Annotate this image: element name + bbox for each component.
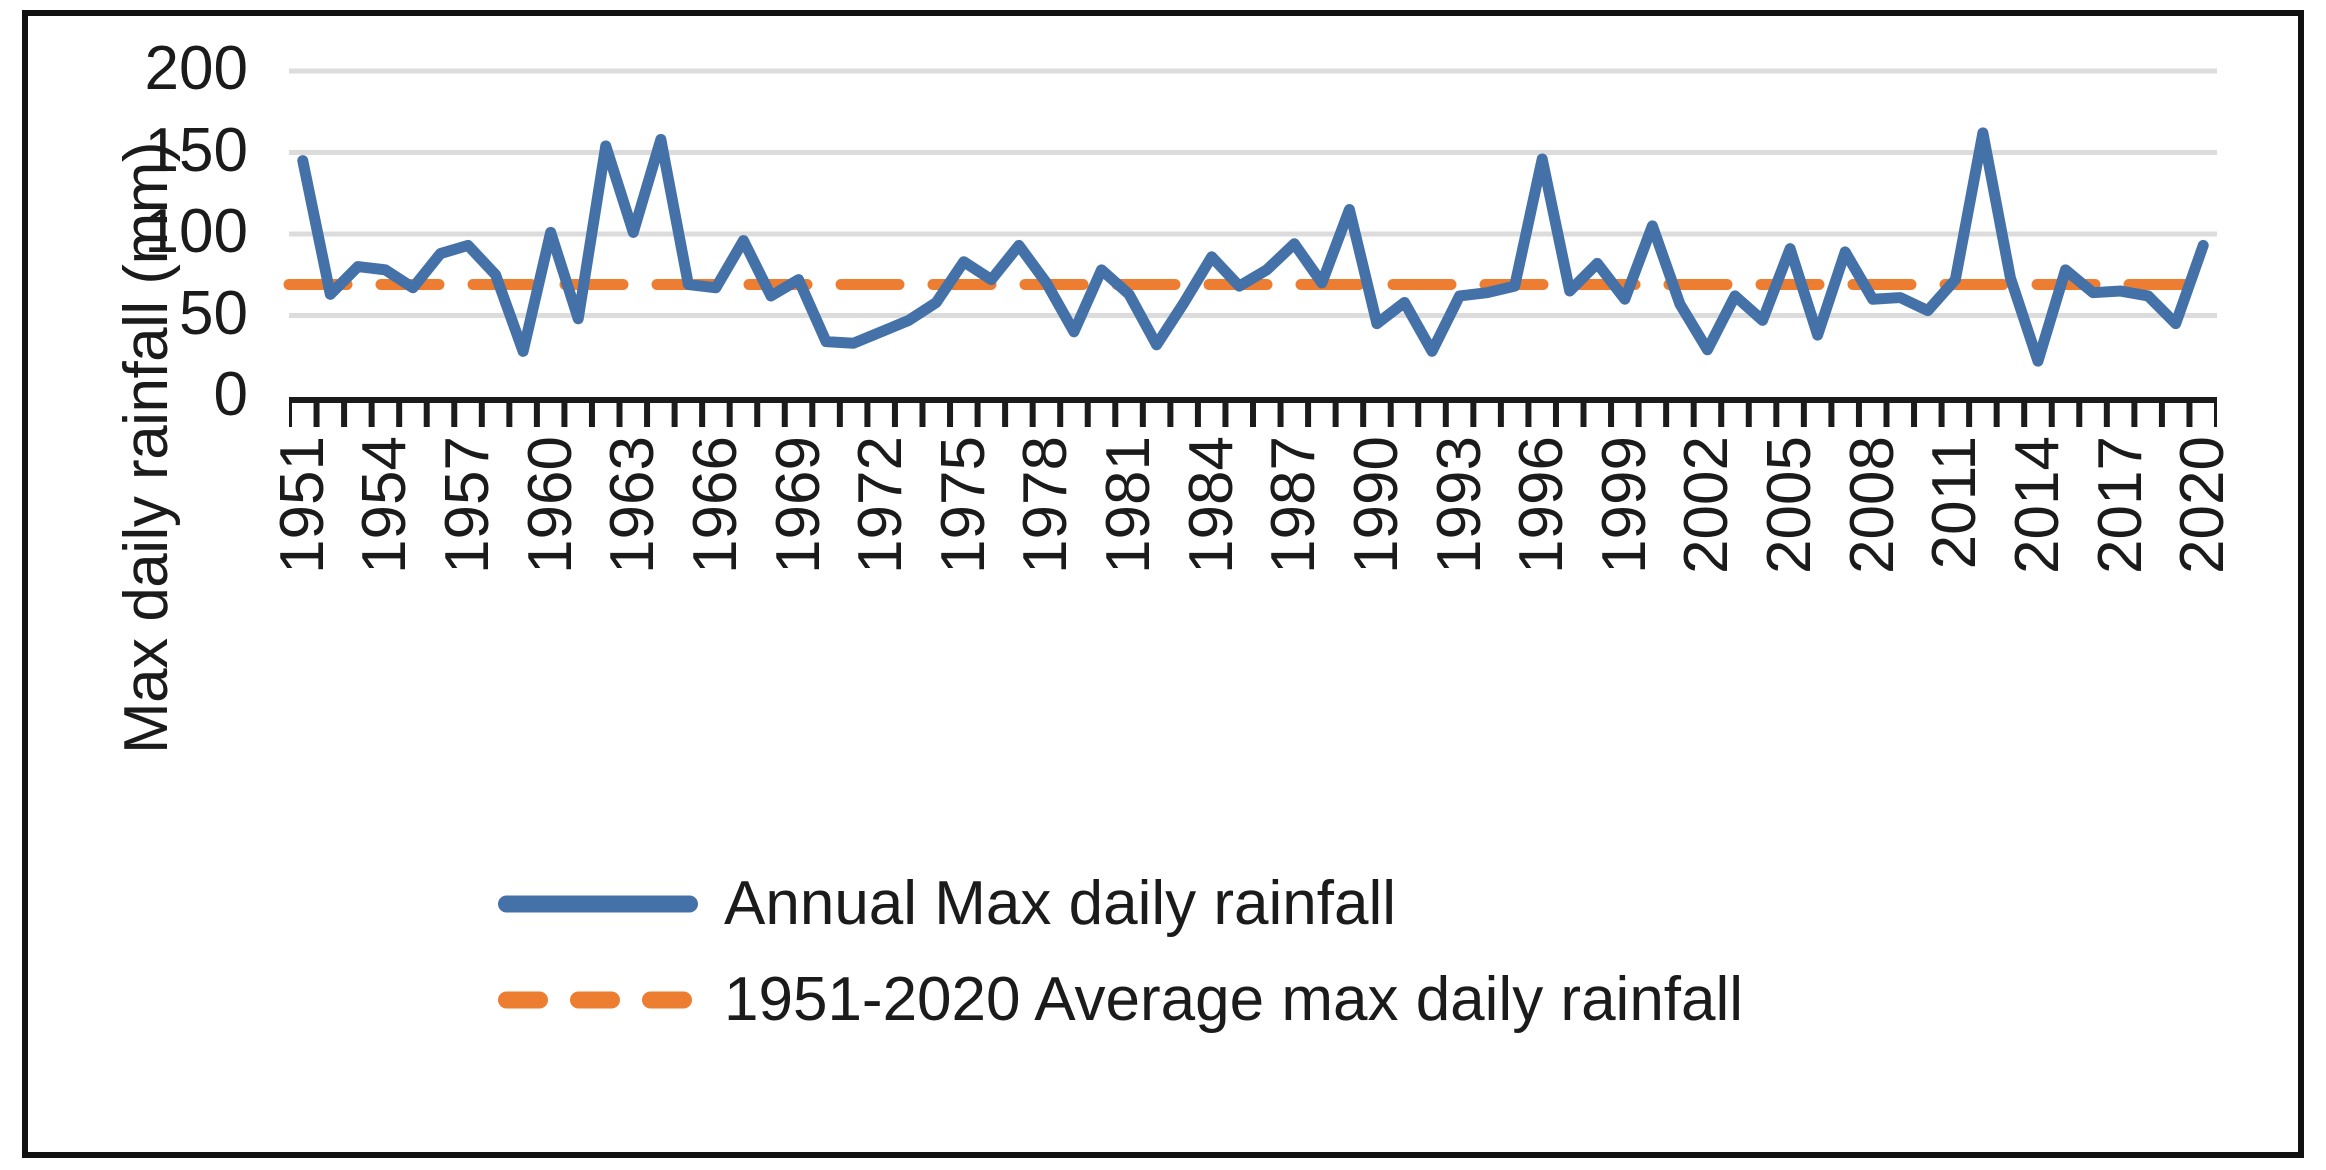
plot-svg xyxy=(289,71,2217,397)
legend-swatch-solid-line-icon xyxy=(498,891,698,917)
x-axis xyxy=(289,397,2217,433)
x-tick-label-2005: 2005 xyxy=(1773,436,1807,636)
y-tick-label-150: 150 xyxy=(68,120,248,182)
legend-item-average: 1951-2020 Average max daily rainfall xyxy=(498,952,2098,1048)
x-tick-label-1990: 1990 xyxy=(1360,436,1394,636)
x-tick-label-1951: 1951 xyxy=(286,436,320,636)
x-tick-label-1978: 1978 xyxy=(1029,436,1063,636)
x-tick-label-1981: 1981 xyxy=(1112,436,1146,636)
x-tick-label-2014: 2014 xyxy=(2021,436,2055,636)
legend-label-annual: Annual Max daily rainfall xyxy=(724,873,1396,935)
x-tick-label-1999: 1999 xyxy=(1608,436,1642,636)
x-tick-label-2008: 2008 xyxy=(1856,436,1890,636)
x-tick-label-1975: 1975 xyxy=(947,436,981,636)
x-tick-label-1993: 1993 xyxy=(1443,436,1477,636)
x-axis-ticks xyxy=(289,400,2217,427)
legend-label-average: 1951-2020 Average max daily rainfall xyxy=(724,969,1743,1031)
x-tick-label-1960: 1960 xyxy=(534,436,568,636)
x-axis-tick-labels: 1951195419571960196319661969197219751978… xyxy=(289,436,2217,636)
x-tick-label-2017: 2017 xyxy=(2104,436,2138,636)
y-tick-label-0: 0 xyxy=(68,364,248,426)
legend-item-annual: Annual Max daily rainfall xyxy=(498,856,2098,952)
x-tick-label-2002: 2002 xyxy=(1690,436,1724,636)
chart-screenshot: Max daily rainfall (mm) 050100150200 195… xyxy=(0,0,2326,1170)
x-tick-label-1972: 1972 xyxy=(864,436,898,636)
chart-legend: Annual Max daily rainfall 1951-2020 Aver… xyxy=(498,856,2098,1048)
x-tick-label-1984: 1984 xyxy=(1195,436,1229,636)
y-tick-label-100: 100 xyxy=(68,201,248,263)
x-tick-label-2020: 2020 xyxy=(2186,436,2220,636)
annual-max-series-line xyxy=(303,133,2203,361)
x-tick-label-1966: 1966 xyxy=(699,436,733,636)
y-tick-label-50: 50 xyxy=(68,283,248,345)
plot-area xyxy=(289,71,2217,397)
x-tick-label-1957: 1957 xyxy=(451,436,485,636)
x-tick-label-1987: 1987 xyxy=(1277,436,1311,636)
x-tick-label-1969: 1969 xyxy=(782,436,816,636)
x-axis-svg xyxy=(289,397,2217,433)
x-tick-label-2011: 2011 xyxy=(1938,436,1972,636)
x-tick-label-1963: 1963 xyxy=(616,436,650,636)
y-tick-label-200: 200 xyxy=(68,38,248,100)
chart-frame: Max daily rainfall (mm) 050100150200 195… xyxy=(22,10,2304,1158)
x-tick-label-1954: 1954 xyxy=(368,436,402,636)
legend-swatch-dashed-line-icon xyxy=(498,987,698,1013)
x-tick-label-1996: 1996 xyxy=(1525,436,1559,636)
